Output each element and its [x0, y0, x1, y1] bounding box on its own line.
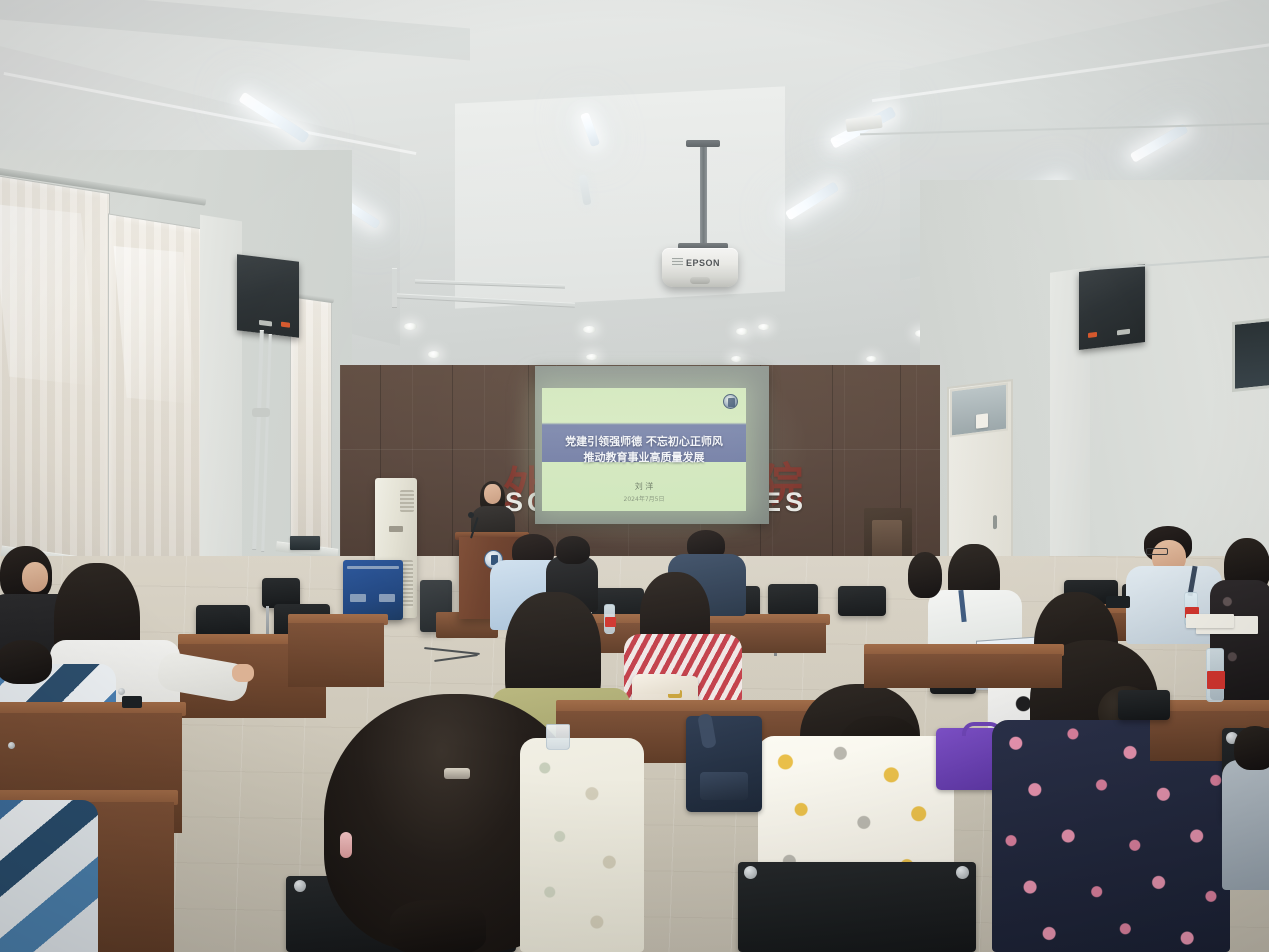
p-dark-suit-hair: [556, 536, 590, 564]
paper-on-desk-right: [1186, 614, 1234, 628]
ac-logo: [389, 526, 403, 532]
water-bottle-right-front[interactable]: [1206, 648, 1224, 702]
case-strap-top: [347, 566, 399, 569]
chair-center-4[interactable]: [768, 584, 818, 616]
chair-knob-fg-4: [956, 866, 969, 879]
p-left-2-hand: [232, 664, 254, 682]
projector-brand-label: EPSON: [686, 258, 720, 268]
wood-panel-seam-5: [832, 365, 833, 565]
slide-author: 刘 洋: [542, 481, 746, 492]
chair-knob-left-1: [118, 688, 125, 695]
podium-microphone-head: [468, 512, 474, 518]
door-notice: [976, 413, 988, 428]
slide-title-line-2: 推动教育事业高质量发展: [542, 451, 746, 465]
wall-english-right: ES: [763, 487, 807, 518]
wood-panel-seam-2: [452, 365, 453, 565]
chair-foreground-center[interactable]: [738, 862, 976, 952]
p-left-3-hair: [0, 640, 52, 684]
speaker-brand-logo-left: [281, 322, 290, 328]
downlight-5: [736, 328, 748, 335]
downlight-4: [586, 354, 598, 360]
projection-screen: 党建引领强师德 不忘初心正师风 推动教育事业高质量发展 刘 洋 2024年7月5…: [542, 388, 746, 511]
desk-center-right-side: [864, 654, 1062, 688]
bottle-label-right-front: [1207, 671, 1225, 689]
chair-right-mid-2[interactable]: [1118, 690, 1170, 720]
projector-mount-pole: [700, 143, 707, 248]
chair-knob-left-2: [8, 742, 15, 749]
downlight-1: [404, 323, 417, 330]
p-right-grey-hair: [1234, 726, 1269, 770]
p-left-1-head: [22, 562, 48, 592]
slide-date: 2024年7月5日: [542, 494, 746, 503]
ceiling-conduit-vertical: [392, 268, 397, 308]
p-ponytail-hairclip: [444, 768, 470, 779]
case-latch-2: [379, 594, 395, 602]
wall-speaker-right: [1079, 264, 1145, 350]
paper-cup-center[interactable]: [546, 724, 570, 750]
downlight-9: [866, 356, 877, 362]
conduit-clamp: [252, 408, 270, 417]
slide-institution-logo-icon: [723, 394, 738, 409]
desk-phone-left[interactable]: [122, 696, 142, 708]
lecture-hall-photo: EPSON: [0, 0, 1269, 952]
speaker-badge-left: [259, 320, 272, 327]
water-bottle-center[interactable]: [604, 604, 615, 634]
window-blind-2: [108, 213, 204, 584]
p-right-grey-torso: [1222, 760, 1269, 890]
chair-knob-fg-1: [294, 880, 306, 892]
speaker-brand-logo-right: [1088, 332, 1097, 338]
downlight-2: [428, 351, 440, 358]
downlight-7: [758, 324, 770, 330]
downlight-3: [583, 326, 596, 333]
speaker-badge-right: [1117, 329, 1130, 336]
projector-lens: [690, 277, 710, 284]
window-blind-1: [0, 175, 110, 587]
handbag-flap: [634, 674, 680, 694]
phone-on-desk[interactable]: [1106, 596, 1130, 608]
p-ponytail-earring: [340, 832, 352, 858]
p-ponytail-tail: [390, 900, 486, 952]
side-window-right: [1232, 318, 1269, 392]
p-back-white2-hair: [908, 552, 942, 598]
chair-knob-fg-3: [744, 866, 757, 879]
projector: EPSON: [662, 248, 738, 287]
projector-vent-grill: [672, 258, 683, 267]
wall-pillar-left: [200, 215, 242, 582]
window-ledge-device: [290, 536, 320, 550]
slide-title-line-1: 党建引领强师德 不忘初心正师风: [542, 435, 746, 449]
door-handle[interactable]: [993, 515, 997, 529]
desk-mid-left-side: [288, 623, 384, 687]
p-glasses-man-glasses-icon: [1146, 548, 1168, 555]
p-left-bottom-torso: [0, 800, 98, 952]
wall-speaker-left: [237, 254, 299, 338]
presenter-head: [484, 484, 501, 504]
bottle-label-center: [605, 617, 616, 627]
projector-mount-bracket: [686, 140, 720, 147]
case-latch-1: [350, 594, 366, 602]
equipment-flight-case: [343, 560, 403, 620]
downlight-6: [731, 356, 742, 362]
ac-vent-top: [400, 490, 414, 512]
chair-right-1[interactable]: [838, 586, 886, 616]
p-ponytail-floral-pattern: [520, 738, 644, 952]
door-transom-window: [950, 382, 1008, 437]
backpack-pocket: [700, 772, 748, 800]
